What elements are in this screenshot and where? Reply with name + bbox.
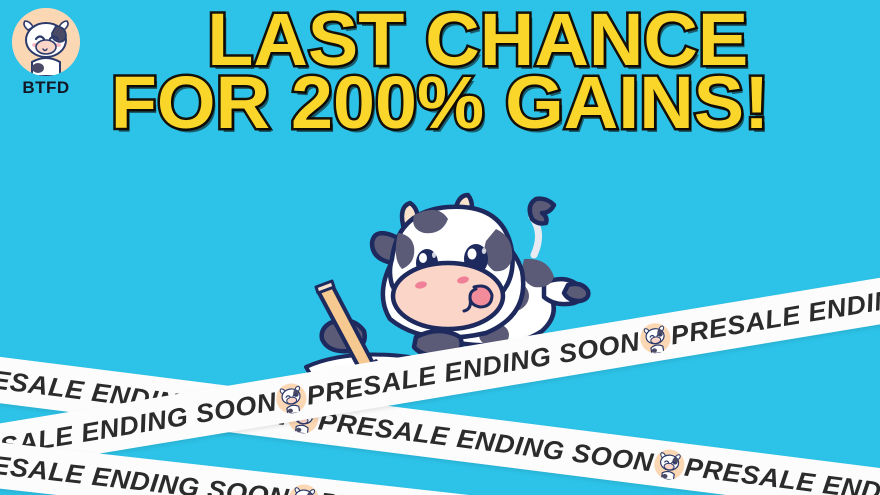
- headline-line-1: LAST CHANCE: [0, 6, 880, 75]
- tape-message: PRESALE ENDING SOON: [318, 486, 657, 495]
- promo-banner-canvas: BTFD LAST CHANCE FOR 200% GAINS!: [0, 0, 880, 495]
- tape-segment: PRESALE ENDING SOON: [689, 452, 880, 495]
- tape-message: PRESALE ENDING SOON: [0, 445, 291, 495]
- tape-segment: PRESALE ENDING SOON: [324, 487, 694, 495]
- tape-segment: PRESALE ENDING SOON: [324, 406, 693, 483]
- cow-mascot-icon: [652, 448, 686, 482]
- brand-logo: BTFD: [6, 8, 86, 98]
- tape-segment: PRESALE ENDING SOON: [674, 267, 880, 350]
- headline-block: LAST CHANCE FOR 200% GAINS!: [0, 6, 880, 138]
- cow-mascot-icon: [288, 483, 321, 495]
- headline-line-2: FOR 200% GAINS!: [0, 69, 880, 138]
- cow-mascot-icon: [12, 8, 80, 76]
- brand-name: BTFD: [6, 78, 86, 98]
- cow-mascot-icon: [638, 321, 672, 355]
- tape-message: PRESALE ENDING SOON: [683, 451, 880, 495]
- tape-message: PRESALE ENDING SOON: [317, 405, 656, 478]
- tape-message: PRESALE ENDING SOON: [668, 267, 880, 351]
- cow-mascot-icon: [275, 381, 309, 415]
- tape-segment: PRESALE ENDING SOON: [0, 446, 328, 495]
